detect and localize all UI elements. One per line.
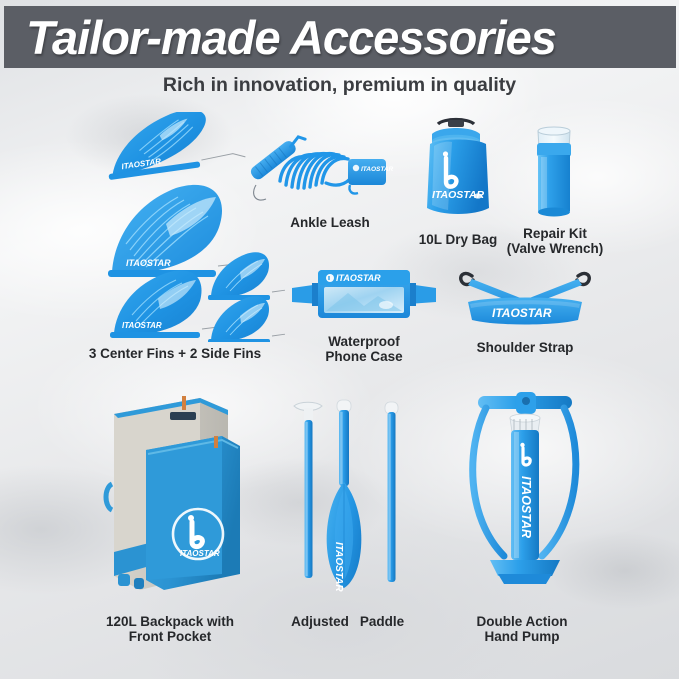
page-title: Tailor-made Accessories — [4, 14, 556, 61]
fin-brand-text: ITAOSTAR — [126, 258, 171, 268]
header-banner: Tailor-made Accessories — [4, 6, 676, 68]
product-repair-kit — [528, 123, 580, 223]
caption-paddle: Paddle — [348, 614, 416, 629]
phone-case-brand-text: ITAOSTAR — [336, 273, 381, 283]
double-action-hand-pump-icon: ITAOSTAR — [460, 388, 590, 600]
fin-brand-text: ITAOSTAR — [122, 321, 162, 330]
sup-paddle-icon: ITAOSTAR — [288, 392, 410, 604]
product-hand-pump: ITAOSTAR — [460, 388, 590, 600]
product-paddle-set: ITAOSTAR — [288, 392, 410, 604]
product-shoulder-strap: ITAOSTAR — [450, 262, 600, 332]
shoulder-strap-brand-text: ITAOSTAR — [492, 306, 552, 320]
caption-fins: 3 Center Fins + 2 Side Fins — [55, 346, 295, 361]
caption-hand-pump: Double Action Hand Pump — [452, 614, 592, 644]
product-phone-case: ITAOSTAR — [290, 262, 438, 330]
roll-top-dry-bag-icon: ITAOSTAR — [418, 112, 498, 222]
product-backpack: ITAOSTAR — [100, 392, 250, 604]
caption-backpack: 120L Backpack with Front Pocket — [100, 614, 240, 644]
caption-ankle-leash: Ankle Leash — [255, 215, 405, 230]
page-subtitle: Rich in innovation, premium in quality — [0, 74, 679, 97]
cylinder-tube-icon — [528, 123, 580, 223]
caption-phone-case: Waterproof Phone Case — [294, 334, 434, 364]
leash-brand-text: ITAOSTAR — [361, 166, 394, 173]
product-ankle-leash: ITAOSTAR — [240, 125, 400, 210]
caption-shoulder-strap: Shoulder Strap — [455, 340, 595, 355]
product-dry-bag: ITAOSTAR — [418, 112, 498, 222]
pump-brand-text: ITAOSTAR — [519, 476, 533, 538]
infographic-page: Tailor-made Accessories Rich in innovati… — [0, 0, 679, 679]
paddle-brand-text: ITAOSTAR — [333, 542, 344, 592]
coiled-leash-icon: ITAOSTAR — [240, 125, 400, 210]
caption-repair-kit: Repair Kit (Valve Wrench) — [487, 226, 623, 256]
crossed-strap-with-hooks-icon: ITAOSTAR — [450, 262, 600, 332]
waist-phone-pouch-icon: ITAOSTAR — [290, 262, 438, 330]
backpack-brand-text: ITAOSTAR — [180, 549, 220, 558]
roller-backpack-icon: ITAOSTAR — [100, 392, 250, 604]
